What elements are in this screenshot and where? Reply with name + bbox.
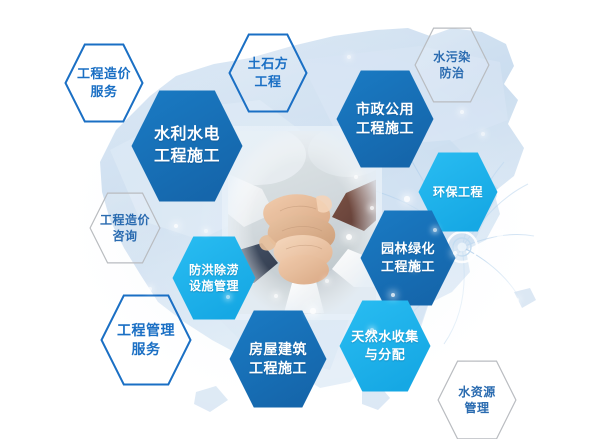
hexagon-engineering-cost-consulting[interactable]: 工程造价咨询 xyxy=(89,192,161,264)
glow-dot-icon xyxy=(481,132,485,136)
hexagon-natural-water-collection-distribution[interactable]: 天然水收集与分配 xyxy=(339,300,431,392)
hexagon-water-conservancy-hydropower-construction[interactable]: 水利水电工程施工 xyxy=(131,90,243,202)
glow-dot-icon xyxy=(310,308,315,313)
glow-dot-icon xyxy=(485,266,489,270)
glow-dot-icon xyxy=(226,295,230,299)
glow-dot-icon xyxy=(412,265,416,269)
glow-dot-icon xyxy=(497,232,502,237)
infographic-canvas: 工程造价服务 土石方工程 水污染防治 xyxy=(0,0,600,439)
hexagon-building-construction[interactable]: 房屋建筑工程施工 xyxy=(229,310,327,408)
glow-dot-icon xyxy=(433,228,437,232)
hexagon-engineering-management-service[interactable]: 工程管理服务 xyxy=(100,294,192,386)
glow-dot-icon xyxy=(370,328,374,332)
glow-dot-icon xyxy=(347,55,351,59)
glow-dot-icon xyxy=(404,196,409,201)
glow-dot-icon xyxy=(204,229,208,233)
hexagon-landscaping-construction[interactable]: 园林绿化工程施工 xyxy=(360,210,456,306)
hexagon-water-resources-management[interactable]: 水资源管理 xyxy=(437,360,517,439)
glow-dot-icon xyxy=(325,279,329,283)
